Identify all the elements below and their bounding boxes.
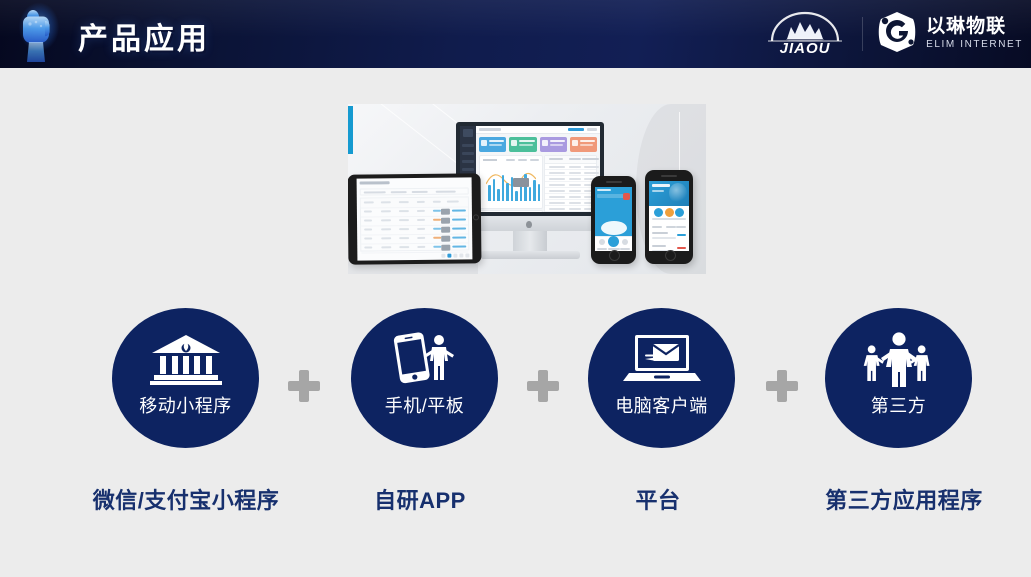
application-nodes-row: 移动小程序	[0, 308, 1031, 458]
phone-device-app	[591, 176, 636, 264]
logo-divider	[862, 17, 863, 51]
tablet-screen	[357, 177, 473, 260]
node-label: 移动小程序	[139, 392, 232, 418]
phone-list-screen	[649, 181, 689, 251]
tablet-device	[348, 173, 481, 264]
elim-logo-text-en: ELIM INTERNET	[926, 39, 1023, 51]
node-label: 第三方	[871, 392, 927, 418]
g-hexagon-icon	[877, 11, 917, 58]
dashboard-chart-panel	[479, 155, 543, 209]
phone-person-icon	[389, 330, 461, 388]
plus-separator-2	[527, 370, 559, 402]
brand-logos: JIAOU 以琳物联 ELIM INTERNET	[762, 6, 1023, 62]
dashboard-screen	[460, 126, 600, 212]
dashboard-map-panel	[479, 210, 543, 212]
plus-separator-1	[288, 370, 320, 402]
elim-logo: 以琳物联 ELIM INTERNET	[877, 11, 1023, 58]
three-people-icon	[861, 330, 937, 388]
slide-body: 移动小程序	[0, 68, 1031, 577]
dashboard-topbar	[476, 126, 600, 134]
node-label: 手机/平板	[385, 392, 465, 418]
dashboard-table-panel	[544, 155, 597, 212]
dashboard-stat-cards	[479, 137, 597, 152]
caption-self-app: 自研APP	[290, 483, 550, 515]
node-label: 电脑客户端	[615, 392, 708, 418]
caption-platform: 平台	[528, 483, 788, 515]
page-header: 产品应用 JIAOU	[0, 0, 1031, 68]
node-mobile-miniprogram[interactable]: 移动小程序	[112, 308, 259, 448]
phone-device-list	[645, 170, 693, 264]
node-phone-tablet[interactable]: 手机/平板	[351, 308, 498, 448]
bank-building-icon	[150, 330, 222, 388]
elim-logo-text-cn: 以琳物联	[926, 17, 1023, 37]
jiaou-logo-text: JIAOU	[762, 40, 848, 57]
page-title: 产品应用	[78, 14, 210, 58]
node-third-party[interactable]: 第三方	[825, 308, 972, 448]
raised-fist-icon	[6, 0, 72, 68]
device-mockup-image	[348, 104, 706, 274]
node-desktop-client[interactable]: 电脑客户端	[588, 308, 735, 448]
caption-miniprogram: 微信/支付宝小程序	[56, 483, 316, 515]
apple-logo-icon	[526, 221, 532, 228]
plus-separator-3	[766, 370, 798, 402]
jiaou-logo: JIAOU	[762, 8, 848, 60]
node-captions-row: 微信/支付宝小程序 自研APP 平台 第三方应用程序	[0, 483, 1031, 533]
caption-third-party-app: 第三方应用程序	[774, 483, 1031, 515]
laptop-mail-icon	[623, 330, 701, 388]
phone-app-screen	[595, 187, 632, 251]
accent-bar	[348, 106, 353, 154]
